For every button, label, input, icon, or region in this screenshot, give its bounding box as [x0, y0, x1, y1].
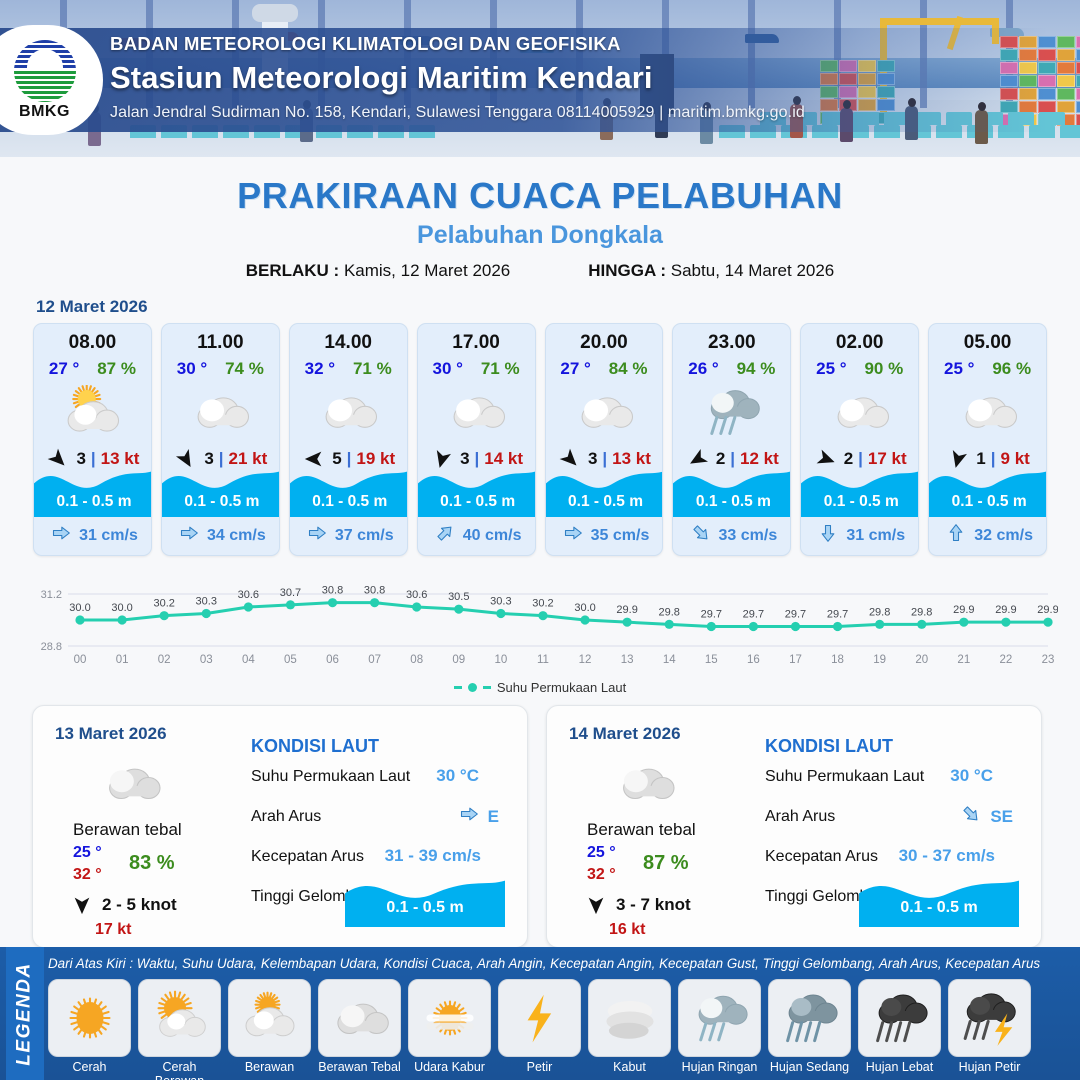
svg-text:03: 03: [200, 654, 213, 666]
card-current-row: 33 cm/s: [673, 523, 791, 548]
card-temp-hum: 27 ° 87 %: [34, 359, 151, 379]
weather-icon-cloudy: [418, 381, 535, 443]
svg-text:20: 20: [915, 654, 928, 666]
weather-icon-cloudy: [162, 381, 279, 443]
svg-text:30.0: 30.0: [69, 602, 90, 614]
svg-text:18: 18: [831, 654, 844, 666]
hourly-date-label: 12 Maret 2026: [36, 297, 1080, 317]
label-sst: Suhu Permukaan Laut: [251, 768, 410, 786]
svg-text:02: 02: [158, 654, 171, 666]
svg-text:31.2: 31.2: [41, 589, 62, 601]
svg-text:30.3: 30.3: [490, 596, 511, 608]
daily-forecast-panel[interactable]: 13 Maret 2026 Berawan tebal 25 ° 32 ° 83…: [32, 705, 528, 948]
legend-item: Hujan Petir: [948, 979, 1031, 1080]
hingga-label: HINGGA :: [588, 261, 666, 280]
hourly-card[interactable]: 14.00 32 ° 71 % 5 | 19 kt 0.1 - 0.5 m: [289, 323, 408, 556]
day-wind-range: 3 - 7 knot: [616, 895, 691, 915]
weather-icon-partly-cloudy: [34, 381, 151, 443]
label-current-spd: Kecepatan Arus: [765, 848, 878, 866]
legend-item-label: Hujan Lebat: [858, 1060, 941, 1074]
legend-item-label: Berawan: [228, 1060, 311, 1074]
current-direction-arrow-icon: [960, 804, 982, 829]
wave-height-value: 0.1 - 0.5 m: [801, 493, 919, 511]
svg-text:01: 01: [116, 654, 129, 666]
header-text-block: BADAN METEOROLOGI KLIMATOLOGI DAN GEOFIS…: [110, 33, 805, 122]
weather-icon-cloudy: [290, 381, 407, 443]
svg-text:30.3: 30.3: [196, 596, 217, 608]
svg-text:23: 23: [1042, 654, 1055, 666]
sst-chart-svg: 31.228.830.00030.00130.20230.30330.60430…: [22, 568, 1058, 676]
card-current-row: 31 cm/s: [801, 523, 919, 548]
svg-text:29.9: 29.9: [995, 604, 1016, 616]
chart-legend: Suhu Permukaan Laut: [0, 680, 1080, 695]
svg-text:17: 17: [789, 654, 802, 666]
legend-icon-fog: [588, 979, 671, 1057]
svg-text:29.9: 29.9: [616, 604, 637, 616]
svg-text:19: 19: [873, 654, 886, 666]
legend-icon-moderate-rain: [768, 979, 851, 1057]
svg-text:29.8: 29.8: [869, 606, 890, 618]
day-wind-gust: 16 kt: [609, 921, 645, 939]
sea-condition-heading: KONDISI LAUT: [765, 736, 893, 757]
wave-height-value: 0.1 - 0.5 m: [290, 493, 408, 511]
day-wind-range: 2 - 5 knot: [102, 895, 177, 915]
legend-item-label: Hujan Sedang: [768, 1060, 851, 1074]
wave-height-value: 0.1 - 0.5 m: [418, 493, 536, 511]
value-current-direction-group: SE: [960, 804, 1013, 829]
page-subtitle: Pelabuhan Dongkala: [0, 221, 1080, 250]
berlaku-value: Kamis, 12 Maret 2026: [344, 261, 510, 280]
bmkg-logo-mark: [14, 40, 76, 102]
legend-item: Berawan Tebal: [318, 979, 401, 1080]
svg-text:29.7: 29.7: [701, 609, 722, 621]
current-speed-value: 40 cm/s: [463, 527, 522, 545]
legend-icon-sunny: [48, 979, 131, 1057]
card-time: 20.00: [546, 332, 663, 354]
card-current-row: 34 cm/s: [162, 523, 280, 548]
legend-dot-swatch: [468, 683, 477, 692]
card-temp-hum: 32 ° 71 %: [290, 359, 407, 379]
day-date: 13 Maret 2026: [55, 724, 167, 744]
svg-text:07: 07: [368, 654, 381, 666]
legend-bar: LEGENDA Dari Atas Kiri : Waktu, Suhu Uda…: [0, 947, 1080, 1080]
svg-text:28.8: 28.8: [41, 641, 62, 653]
svg-text:30.6: 30.6: [238, 589, 259, 601]
current-speed-value: 33 cm/s: [719, 527, 778, 545]
svg-text:04: 04: [242, 654, 255, 666]
wave-height-value: 0.1 - 0.5 m: [929, 493, 1047, 511]
hourly-card[interactable]: 11.00 30 ° 74 % 3 | 21 kt 0.1 - 0.5 m: [161, 323, 280, 556]
legend-line-swatch-2: [483, 686, 491, 689]
logo-land-stripes: [14, 71, 76, 102]
hourly-card[interactable]: 20.00 27 ° 84 % 3 | 13 kt 0.1 - 0.5 m: [545, 323, 664, 556]
card-temperature: 32 °: [305, 359, 335, 379]
card-current-row: 31 cm/s: [34, 523, 152, 548]
wave-height-value: 0.1 - 0.5 m: [546, 493, 664, 511]
weather-icon-cloudy: [546, 381, 663, 443]
legend-item-label: Udara Kabur: [408, 1060, 491, 1074]
current-direction-arrow-icon: [458, 804, 480, 829]
card-humidity: 94 %: [737, 359, 776, 379]
legend-icon-thunder: [498, 979, 581, 1057]
card-time: 08.00: [34, 332, 151, 354]
day-wind-gust: 17 kt: [95, 921, 131, 939]
card-temperature: 27 °: [560, 359, 590, 379]
validity-row: BERLAKU : Kamis, 12 Maret 2026 HINGGA : …: [0, 261, 1080, 281]
svg-text:30.8: 30.8: [364, 585, 385, 597]
legend-items: Cerah Cerah Berawan Berawan Berawan Teba…: [48, 979, 1076, 1080]
svg-text:00: 00: [74, 654, 87, 666]
card-time: 11.00: [162, 332, 279, 354]
card-current-row: 32 cm/s: [929, 523, 1047, 548]
label-current-spd: Kecepatan Arus: [251, 848, 364, 866]
weather-icon-overcast: [93, 754, 169, 817]
hourly-card[interactable]: 17.00 30 ° 71 % 3 | 14 kt 0.1 - 0.5 m: [417, 323, 536, 556]
card-temperature: 30 °: [433, 359, 463, 379]
card-temp-hum: 25 ° 90 %: [801, 359, 918, 379]
weather-icon-overcast: [607, 754, 683, 817]
weather-icon-light-rain: [673, 381, 790, 443]
legend-icon-haze: [408, 979, 491, 1057]
current-speed-value: 34 cm/s: [207, 527, 266, 545]
weather-icon-cloudy: [929, 381, 1046, 443]
wave-height-value: 0.1 - 0.5 m: [673, 493, 791, 511]
card-temperature: 30 °: [177, 359, 207, 379]
legend-side-title-text: LEGENDA: [14, 962, 36, 1065]
legend-icon-thunderstorm: [948, 979, 1031, 1057]
svg-text:29.9: 29.9: [1037, 604, 1058, 616]
legend-side-title: LEGENDA: [6, 947, 44, 1080]
day-humidity: 83 %: [129, 852, 175, 875]
svg-text:15: 15: [705, 654, 718, 666]
card-temperature: 25 °: [944, 359, 974, 379]
card-humidity: 71 %: [353, 359, 392, 379]
svg-text:13: 13: [621, 654, 634, 666]
svg-text:10: 10: [494, 654, 507, 666]
card-humidity: 74 %: [225, 359, 264, 379]
legend-icon-light-rain: [678, 979, 761, 1057]
day-condition: Berawan tebal: [587, 820, 696, 840]
card-humidity: 87 %: [97, 359, 136, 379]
legend-item: Hujan Lebat: [858, 979, 941, 1080]
card-temp-hum: 30 ° 74 %: [162, 359, 279, 379]
card-time: 23.00: [673, 332, 790, 354]
legend-item: Cerah: [48, 979, 131, 1080]
day-humidity: 87 %: [643, 852, 689, 875]
legend-item-label: Berawan Tebal: [318, 1060, 401, 1074]
label-sst: Suhu Permukaan Laut: [765, 768, 924, 786]
hourly-card[interactable]: 23.00 26 ° 94 % 2 | 12 kt 0.1 - 0.5 m: [672, 323, 791, 556]
legend-item: Berawan: [228, 979, 311, 1080]
svg-text:30.8: 30.8: [322, 585, 343, 597]
wave-graphic: [859, 869, 1019, 927]
legend-item-label: Cerah: [48, 1060, 131, 1074]
card-current-row: 35 cm/s: [546, 523, 664, 548]
current-speed-value: 37 cm/s: [335, 527, 394, 545]
infographic-page: BMKG BADAN METEOROLOGI KLIMATOLOGI DAN G…: [0, 0, 1080, 1080]
daily-forecast-row: 13 Maret 2026 Berawan tebal 25 ° 32 ° 83…: [0, 695, 1080, 948]
svg-text:08: 08: [410, 654, 423, 666]
wave-height-value: 0.1 - 0.5 m: [162, 493, 280, 511]
legend-item-label: Kabut: [588, 1060, 671, 1074]
value-current-direction-group: E: [458, 804, 499, 829]
current-direction-arrow-icon: [306, 523, 328, 548]
card-temperature: 25 °: [816, 359, 846, 379]
day-wind-row: 2 - 5 knot: [69, 894, 177, 916]
legend-item: Udara Kabur: [408, 979, 491, 1080]
legend-item: Hujan Sedang: [768, 979, 851, 1080]
wave-height-value: 0.1 - 0.5 m: [34, 493, 152, 511]
svg-text:29.7: 29.7: [827, 609, 848, 621]
svg-text:29.7: 29.7: [785, 609, 806, 621]
legend-icon-sunny-cloudy: [138, 979, 221, 1057]
day-date: 14 Maret 2026: [569, 724, 681, 744]
legend-item: Petir: [498, 979, 581, 1080]
card-temp-hum: 27 ° 84 %: [546, 359, 663, 379]
hourly-card[interactable]: 02.00 25 ° 90 % 2 | 17 kt 0.1 - 0.5 m: [800, 323, 919, 556]
current-speed-value: 32 cm/s: [974, 527, 1033, 545]
header-org-name: BADAN METEOROLOGI KLIMATOLOGI DAN GEOFIS…: [110, 33, 805, 55]
legend-icon-cloudy-sun: [228, 979, 311, 1057]
wind-direction-arrow-icon: [583, 894, 609, 916]
card-humidity: 90 %: [864, 359, 903, 379]
legend-item-label: Hujan Petir: [948, 1060, 1031, 1074]
card-time: 14.00: [290, 332, 407, 354]
legend-item: Hujan Ringan: [678, 979, 761, 1080]
current-direction-arrow-icon: [434, 523, 456, 548]
svg-text:14: 14: [663, 654, 676, 666]
header-address: Jalan Jendral Sudirman No. 158, Kendari,…: [110, 104, 805, 122]
day-wind-row: 3 - 7 knot: [583, 894, 691, 916]
legend-item-label: Hujan Ringan: [678, 1060, 761, 1074]
page-header: BMKG BADAN METEOROLOGI KLIMATOLOGI DAN G…: [0, 0, 1080, 157]
day-temp-min: 25 °: [587, 844, 616, 862]
svg-text:29.7: 29.7: [743, 609, 764, 621]
wave-graphic: [345, 869, 505, 927]
card-humidity: 96 %: [992, 359, 1031, 379]
svg-text:30.0: 30.0: [111, 602, 132, 614]
hourly-card[interactable]: 08.00 27 ° 87 % 3 | 13 kt 0.1 - 0.5 m: [33, 323, 152, 556]
value-current-speed: 30 - 37 cm/s: [899, 846, 995, 866]
legend-item: Kabut: [588, 979, 671, 1080]
value-wave-height: 0.1 - 0.5 m: [345, 899, 505, 917]
legend-label: Suhu Permukaan Laut: [497, 680, 626, 695]
card-time: 17.00: [418, 332, 535, 354]
hourly-forecast-row: 08.00 27 ° 87 % 3 | 13 kt 0.1 - 0.5 m: [0, 323, 1080, 556]
current-direction-arrow-icon: [817, 523, 839, 548]
card-humidity: 84 %: [609, 359, 648, 379]
current-direction-arrow-icon: [945, 523, 967, 548]
card-current-row: 40 cm/s: [418, 523, 536, 548]
legend-icon-heavy-rain: [858, 979, 941, 1057]
sea-condition-heading: KONDISI LAUT: [251, 736, 379, 757]
svg-text:29.9: 29.9: [953, 604, 974, 616]
berlaku-group: BERLAKU : Kamis, 12 Maret 2026: [246, 261, 511, 281]
day-temp-max: 32 °: [587, 866, 616, 884]
legend-item-label: Cerah Berawan: [138, 1060, 221, 1080]
label-current-dir: Arah Arus: [765, 808, 835, 826]
card-humidity: 71 %: [481, 359, 520, 379]
svg-text:29.8: 29.8: [659, 606, 680, 618]
current-direction-arrow-icon: [178, 523, 200, 548]
label-current-dir: Arah Arus: [251, 808, 321, 826]
svg-text:11: 11: [537, 654, 549, 666]
svg-text:12: 12: [579, 654, 592, 666]
svg-text:09: 09: [452, 654, 465, 666]
berlaku-label: BERLAKU :: [246, 261, 340, 280]
legend-icon-overcast: [318, 979, 401, 1057]
bmkg-logo-text: BMKG: [19, 103, 70, 121]
legend-item-label: Petir: [498, 1060, 581, 1074]
current-direction-arrow-icon: [690, 523, 712, 548]
svg-text:22: 22: [1000, 654, 1013, 666]
svg-text:30.2: 30.2: [532, 598, 553, 610]
svg-text:05: 05: [284, 654, 297, 666]
card-temperature: 27 °: [49, 359, 79, 379]
header-station-name: Stasiun Meteorologi Maritim Kendari: [110, 60, 805, 96]
svg-text:29.8: 29.8: [911, 606, 932, 618]
hingga-value: Sabtu, 14 Maret 2026: [671, 261, 835, 280]
legend-line-swatch: [454, 686, 462, 689]
day-temp-max: 32 °: [73, 866, 102, 884]
legend-item: Cerah Berawan: [138, 979, 221, 1080]
card-time: 05.00: [929, 332, 1046, 354]
svg-text:06: 06: [326, 654, 339, 666]
svg-text:30.2: 30.2: [153, 598, 174, 610]
sst-chart: 31.228.830.00030.00130.20230.30330.60430…: [22, 568, 1058, 676]
value-current-direction: SE: [990, 807, 1013, 827]
day-temp-min: 25 °: [73, 844, 102, 862]
card-time: 02.00: [801, 332, 918, 354]
card-temperature: 26 °: [688, 359, 718, 379]
legend-note: Dari Atas Kiri : Waktu, Suhu Udara, Kele…: [48, 956, 1074, 971]
current-speed-value: 35 cm/s: [591, 527, 650, 545]
svg-text:30.7: 30.7: [280, 587, 301, 599]
card-temp-hum: 25 ° 96 %: [929, 359, 1046, 379]
value-current-speed: 31 - 39 cm/s: [385, 846, 481, 866]
value-wave-height: 0.1 - 0.5 m: [859, 899, 1019, 917]
card-temp-hum: 30 ° 71 %: [418, 359, 535, 379]
current-speed-value: 31 cm/s: [79, 527, 138, 545]
card-temp-hum: 26 ° 94 %: [673, 359, 790, 379]
current-direction-arrow-icon: [562, 523, 584, 548]
current-direction-arrow-icon: [50, 523, 72, 548]
hingga-group: HINGGA : Sabtu, 14 Maret 2026: [588, 261, 834, 281]
wind-direction-arrow-icon: [69, 894, 95, 916]
svg-text:30.0: 30.0: [574, 602, 595, 614]
hourly-card[interactable]: 05.00 25 ° 96 % 1 | 9 kt 0.1 - 0.5 m: [928, 323, 1047, 556]
value-current-direction: E: [488, 807, 499, 827]
svg-text:21: 21: [957, 654, 970, 666]
value-sst: 30 °C: [436, 766, 479, 786]
current-speed-value: 31 cm/s: [846, 527, 905, 545]
svg-text:30.5: 30.5: [448, 591, 469, 603]
day-condition: Berawan tebal: [73, 820, 182, 840]
value-sst: 30 °C: [950, 766, 993, 786]
page-title: PRAKIRAAN CUACA PELABUHAN: [0, 175, 1080, 217]
weather-icon-cloudy: [801, 381, 918, 443]
svg-text:30.6: 30.6: [406, 589, 427, 601]
daily-forecast-panel[interactable]: 14 Maret 2026 Berawan tebal 25 ° 32 ° 87…: [546, 705, 1042, 948]
card-current-row: 37 cm/s: [290, 523, 408, 548]
svg-text:16: 16: [747, 654, 760, 666]
